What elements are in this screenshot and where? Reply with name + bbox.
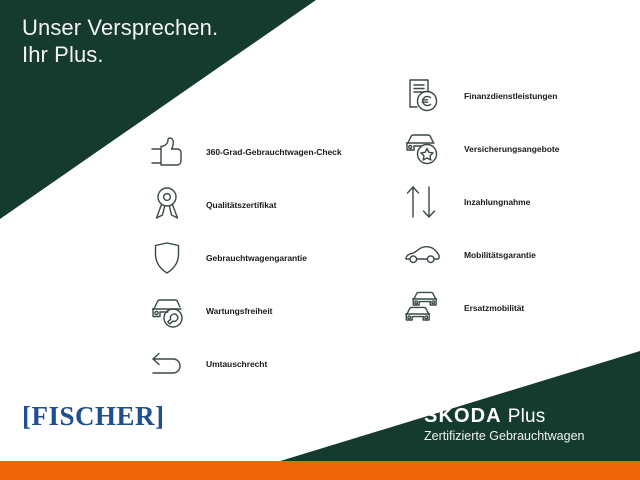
dealer-logo: [FISCHER]: [22, 401, 165, 431]
benefit-label: Versicherungsangebote: [464, 144, 559, 154]
return-arrow-icon: [146, 341, 198, 387]
car-star-icon: [400, 126, 452, 172]
skoda-wordmark: SKODA: [424, 405, 502, 428]
thumbs-up-icon: [146, 129, 198, 175]
benefit-label: Inzahlungnahme: [464, 197, 530, 207]
up-down-arrows-icon: [400, 179, 452, 225]
car-wrench-icon: [146, 288, 198, 334]
benefit-list-left: 360-Grad-Gebrauchtwagen-Check Qualitätsz…: [146, 126, 342, 391]
shield-icon: [146, 235, 198, 281]
benefit-item-warranty: Gebrauchtwagengarantie: [146, 232, 342, 284]
benefit-label: Finanzdienstleistungen: [464, 91, 557, 101]
award-rosette-icon: [146, 182, 198, 228]
benefit-item-maintenance: Wartungsfreiheit: [146, 285, 342, 337]
benefit-label: Mobilitätsgarantie: [464, 250, 536, 260]
two-cars-icon: [400, 285, 452, 331]
page-title: Unser Versprechen. Ihr Plus.: [22, 14, 218, 68]
benefit-item-financial-services: Finanzdienstleistungen: [400, 70, 559, 122]
benefit-item-quality-certificate: Qualitätszertifikat: [146, 179, 342, 231]
benefit-label: Ersatzmobilität: [464, 303, 524, 313]
benefit-label: Qualitätszertifikat: [206, 200, 276, 210]
promo-banner: Unser Versprechen. Ihr Plus. 360-Grad-Ge…: [0, 0, 640, 480]
benefit-list-right: Finanzdienstleistungen Versicherungsange…: [400, 70, 559, 335]
benefit-label: Wartungsfreiheit: [206, 306, 272, 316]
benefit-item-replacement-mobility: Ersatzmobilität: [400, 282, 559, 334]
document-euro-icon: [400, 73, 452, 119]
accent-bar: [0, 461, 640, 480]
benefit-item-return-right: Umtauschrecht: [146, 338, 342, 390]
benefit-label: Umtauschrecht: [206, 359, 267, 369]
benefit-item-360-check: 360-Grad-Gebrauchtwagen-Check: [146, 126, 342, 178]
benefit-item-trade-in: Inzahlungnahme: [400, 176, 559, 228]
brand-suffix: Plus: [508, 406, 546, 428]
headline-line-1: Unser Versprechen.: [22, 14, 218, 41]
benefit-item-mobility-guarantee: Mobilitätsgarantie: [400, 229, 559, 281]
headline-line-2: Ihr Plus.: [22, 41, 218, 68]
benefit-label: 360-Grad-Gebrauchtwagen-Check: [206, 147, 342, 157]
brand-lockup: SKODA Plus Zertifizierte Gebrauchtwagen: [424, 405, 624, 443]
car-side-icon: [400, 232, 452, 278]
brand-wordmark-row: SKODA Plus: [424, 405, 624, 428]
benefit-label: Gebrauchtwagengarantie: [206, 253, 307, 263]
brand-subtitle: Zertifizierte Gebrauchtwagen: [424, 429, 624, 443]
benefit-item-insurance: Versicherungsangebote: [400, 123, 559, 175]
